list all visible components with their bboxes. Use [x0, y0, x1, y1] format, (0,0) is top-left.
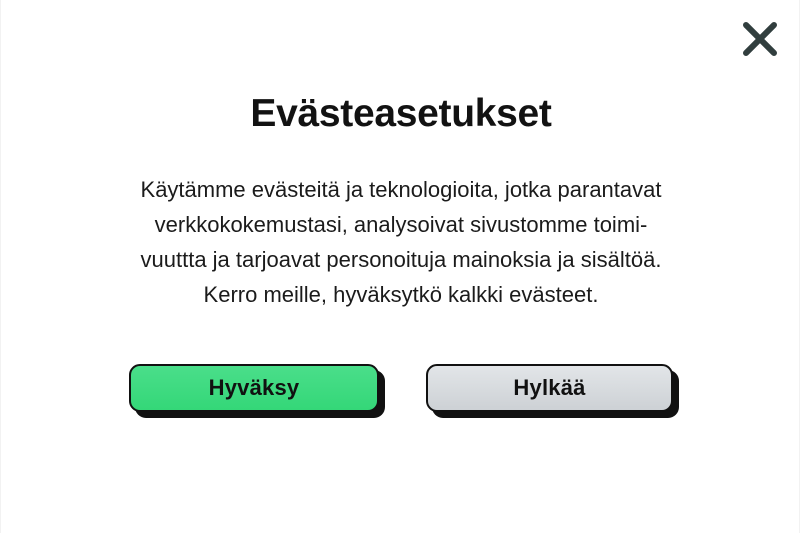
close-x-icon: [743, 22, 777, 56]
description-line-3: vuuttta ja tarjoavat personoituja mainok…: [1, 242, 800, 277]
decline-cookies-button[interactable]: Hylkää: [426, 364, 673, 412]
accept-cookies-button[interactable]: Hyväksy: [129, 364, 379, 412]
description-line-2: verkkokokemustasi, analysoivat sivustomm…: [1, 207, 800, 242]
description-line-4: Kerro meille, hyväksytkö kalkki evästeet…: [1, 277, 800, 312]
dialog-title: Evästeasetukset: [1, 90, 800, 138]
close-button[interactable]: [735, 14, 785, 64]
dialog-actions: Hyväksy Hylkää: [1, 364, 800, 424]
cookie-consent-dialog: Evästeasetukset Käytämme evästeitä ja te…: [0, 0, 800, 533]
description-line-1: Käytämme evästeitä ja teknologioita, jot…: [1, 172, 800, 207]
dialog-description: Käytämme evästeitä ja teknologioita, jot…: [1, 172, 800, 312]
